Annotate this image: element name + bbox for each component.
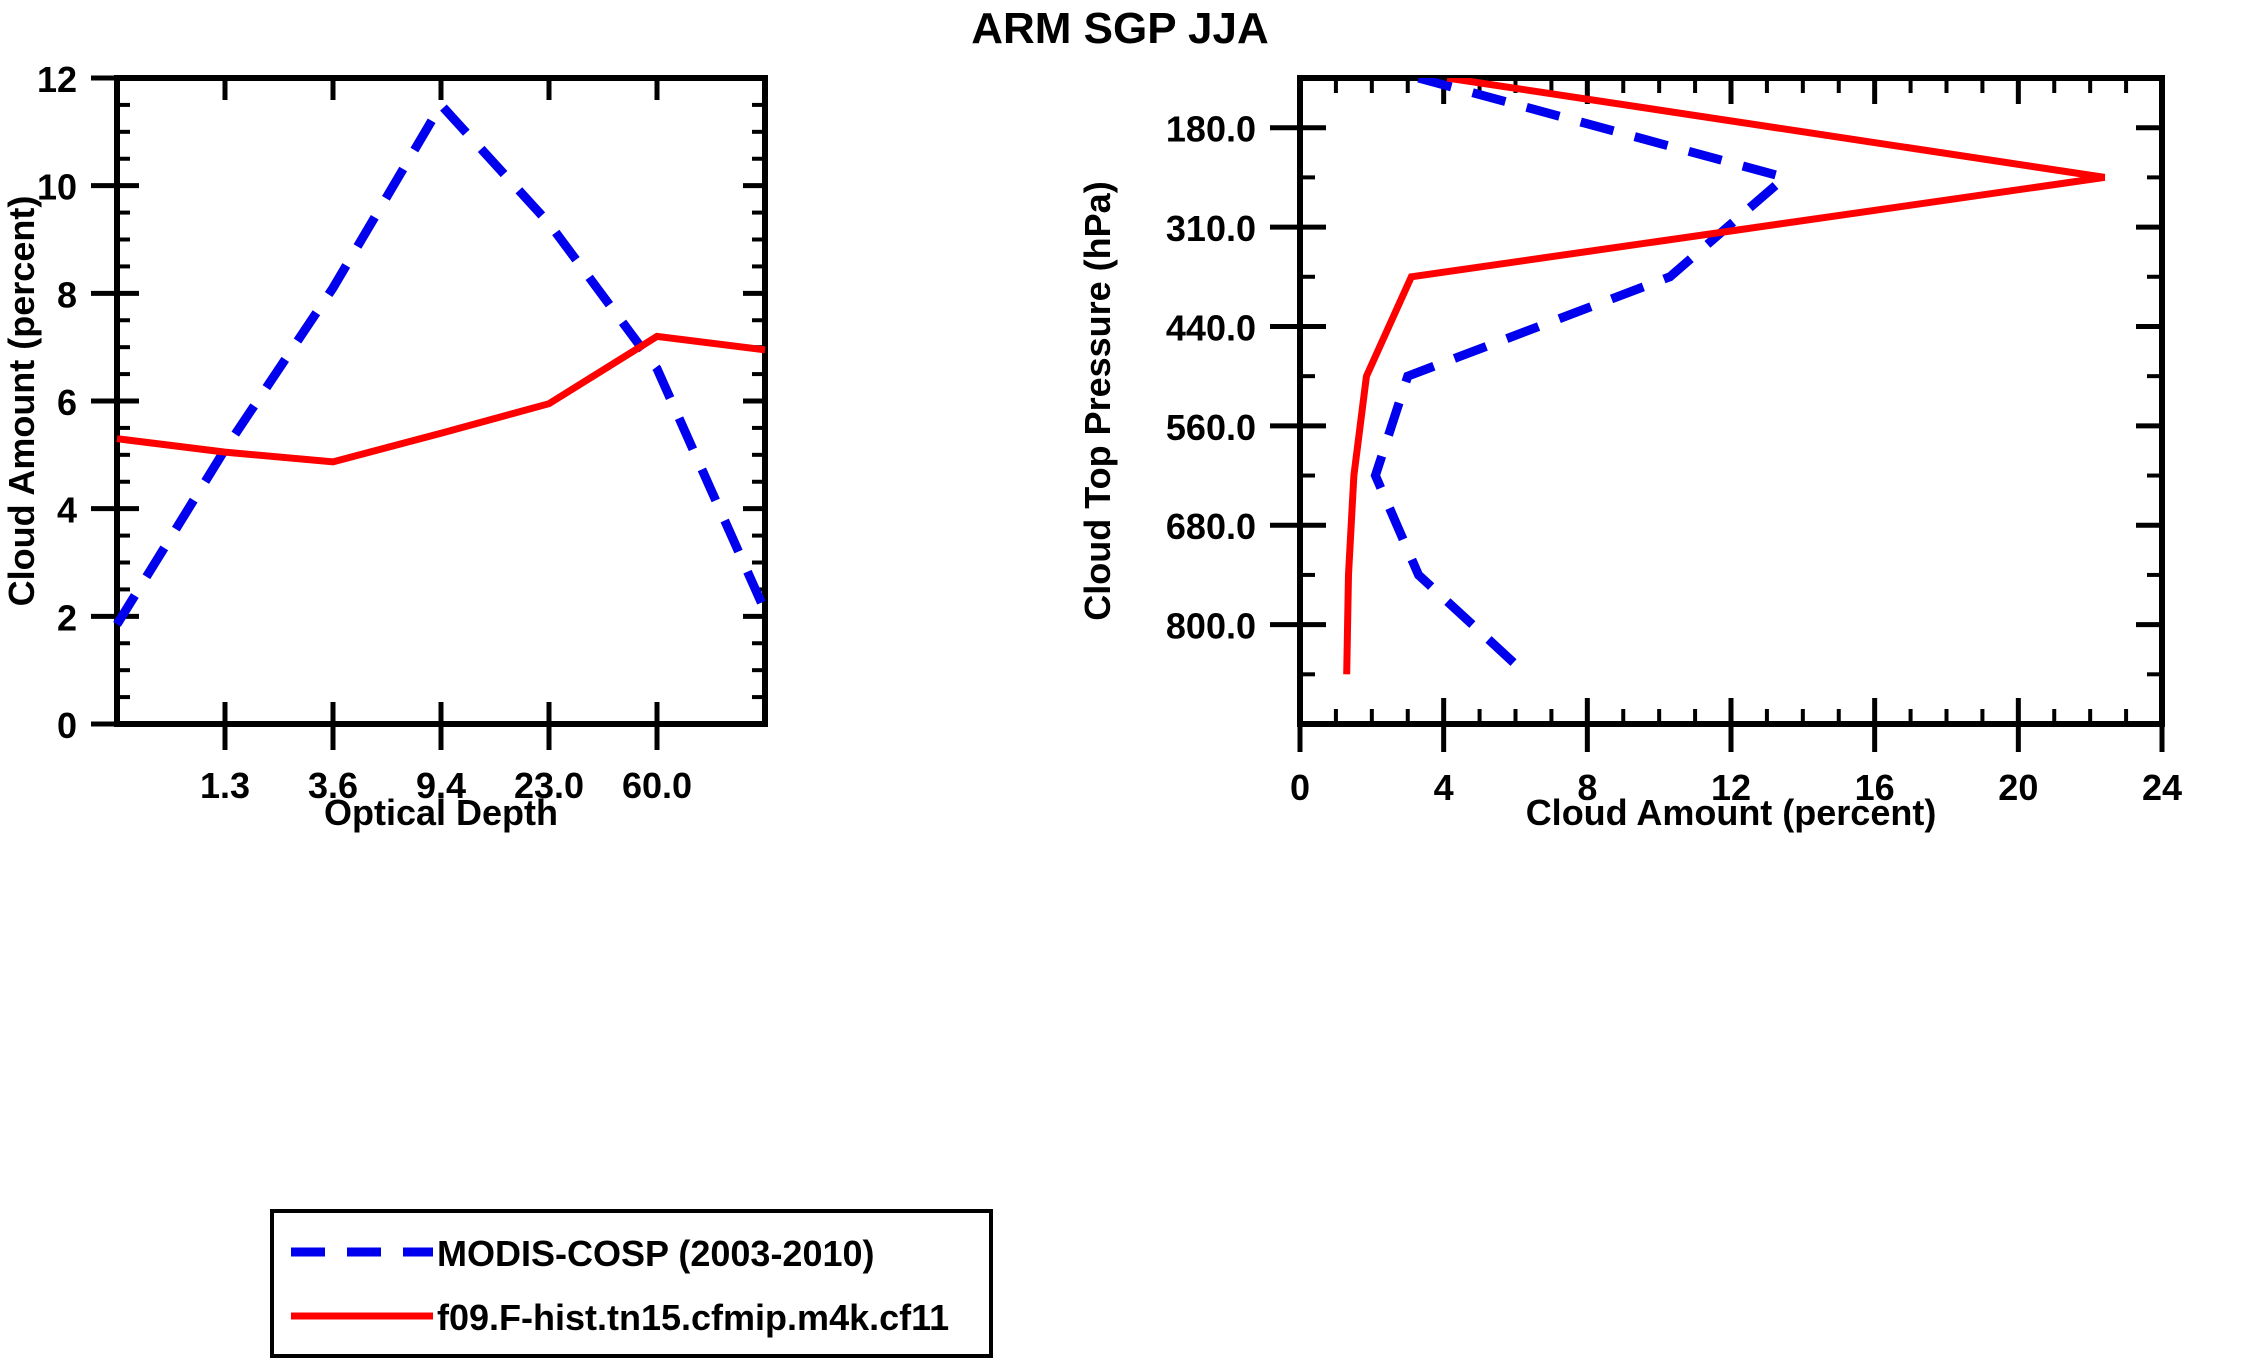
right-axis-ticks — [1270, 78, 2162, 752]
right-series-group — [1347, 78, 2105, 674]
left-y-tick-label: 12 — [37, 59, 77, 100]
figure-canvas: ARM SGP JJA 1.33.69.423.060.0 024681012 … — [0, 0, 2241, 1367]
right-y-tick-label: 180.0 — [1166, 109, 1256, 150]
right-x-tick-label: 0 — [1290, 767, 1310, 808]
left-x-tick-label: 60.0 — [622, 765, 692, 806]
left-y-tick-label: 0 — [57, 705, 77, 746]
right-series-model — [1347, 78, 2105, 674]
left-x-tick-label: 1.3 — [200, 765, 250, 806]
left-y-tick-labels: 024681012 — [37, 59, 77, 746]
right-x-tick-label: 20 — [1998, 767, 2038, 808]
right-x-tick-label: 24 — [2142, 767, 2182, 808]
left-series-group — [117, 105, 765, 624]
left-y-tick-label: 6 — [57, 382, 77, 423]
right-y-tick-labels: 180.0310.0440.0560.0680.0800.0 — [1166, 109, 1256, 647]
right-y-axis-title: Cloud Top Pressure (hPa) — [1077, 181, 1118, 620]
right-plot-frame — [1300, 78, 2162, 724]
left-panel: 1.33.69.423.060.0 024681012 Optical Dept… — [1, 59, 765, 833]
right-y-tick-label: 800.0 — [1166, 606, 1256, 647]
left-x-axis-title: Optical Depth — [324, 792, 558, 833]
left-series-obs — [117, 105, 765, 624]
right-panel: 04812162024 180.0310.0440.0560.0680.0800… — [1077, 78, 2182, 833]
left-y-tick-label: 10 — [37, 167, 77, 208]
left-plot-frame — [117, 78, 765, 724]
right-x-axis-title: Cloud Amount (percent) — [1526, 792, 1937, 833]
legend: MODIS-COSP (2003-2010)f09.F-hist.tn15.cf… — [272, 1211, 991, 1356]
right-series-obs — [1375, 78, 1784, 674]
left-y-tick-label: 8 — [57, 274, 77, 315]
left-y-tick-label: 4 — [57, 490, 77, 531]
legend-label-obs: MODIS-COSP (2003-2010) — [437, 1233, 875, 1274]
legend-label-model: f09.F-hist.tn15.cfmip.m4k.cf11 — [437, 1297, 949, 1338]
left-axis-ticks — [91, 78, 765, 750]
right-y-tick-label: 310.0 — [1166, 208, 1256, 249]
left-y-axis-title: Cloud Amount (percent) — [1, 196, 42, 607]
right-y-tick-label: 560.0 — [1166, 407, 1256, 448]
right-y-tick-label: 680.0 — [1166, 506, 1256, 547]
right-x-tick-label: 4 — [1434, 767, 1454, 808]
page-title: ARM SGP JJA — [971, 4, 1269, 53]
right-y-tick-label: 440.0 — [1166, 307, 1256, 348]
left-y-tick-label: 2 — [57, 597, 77, 638]
